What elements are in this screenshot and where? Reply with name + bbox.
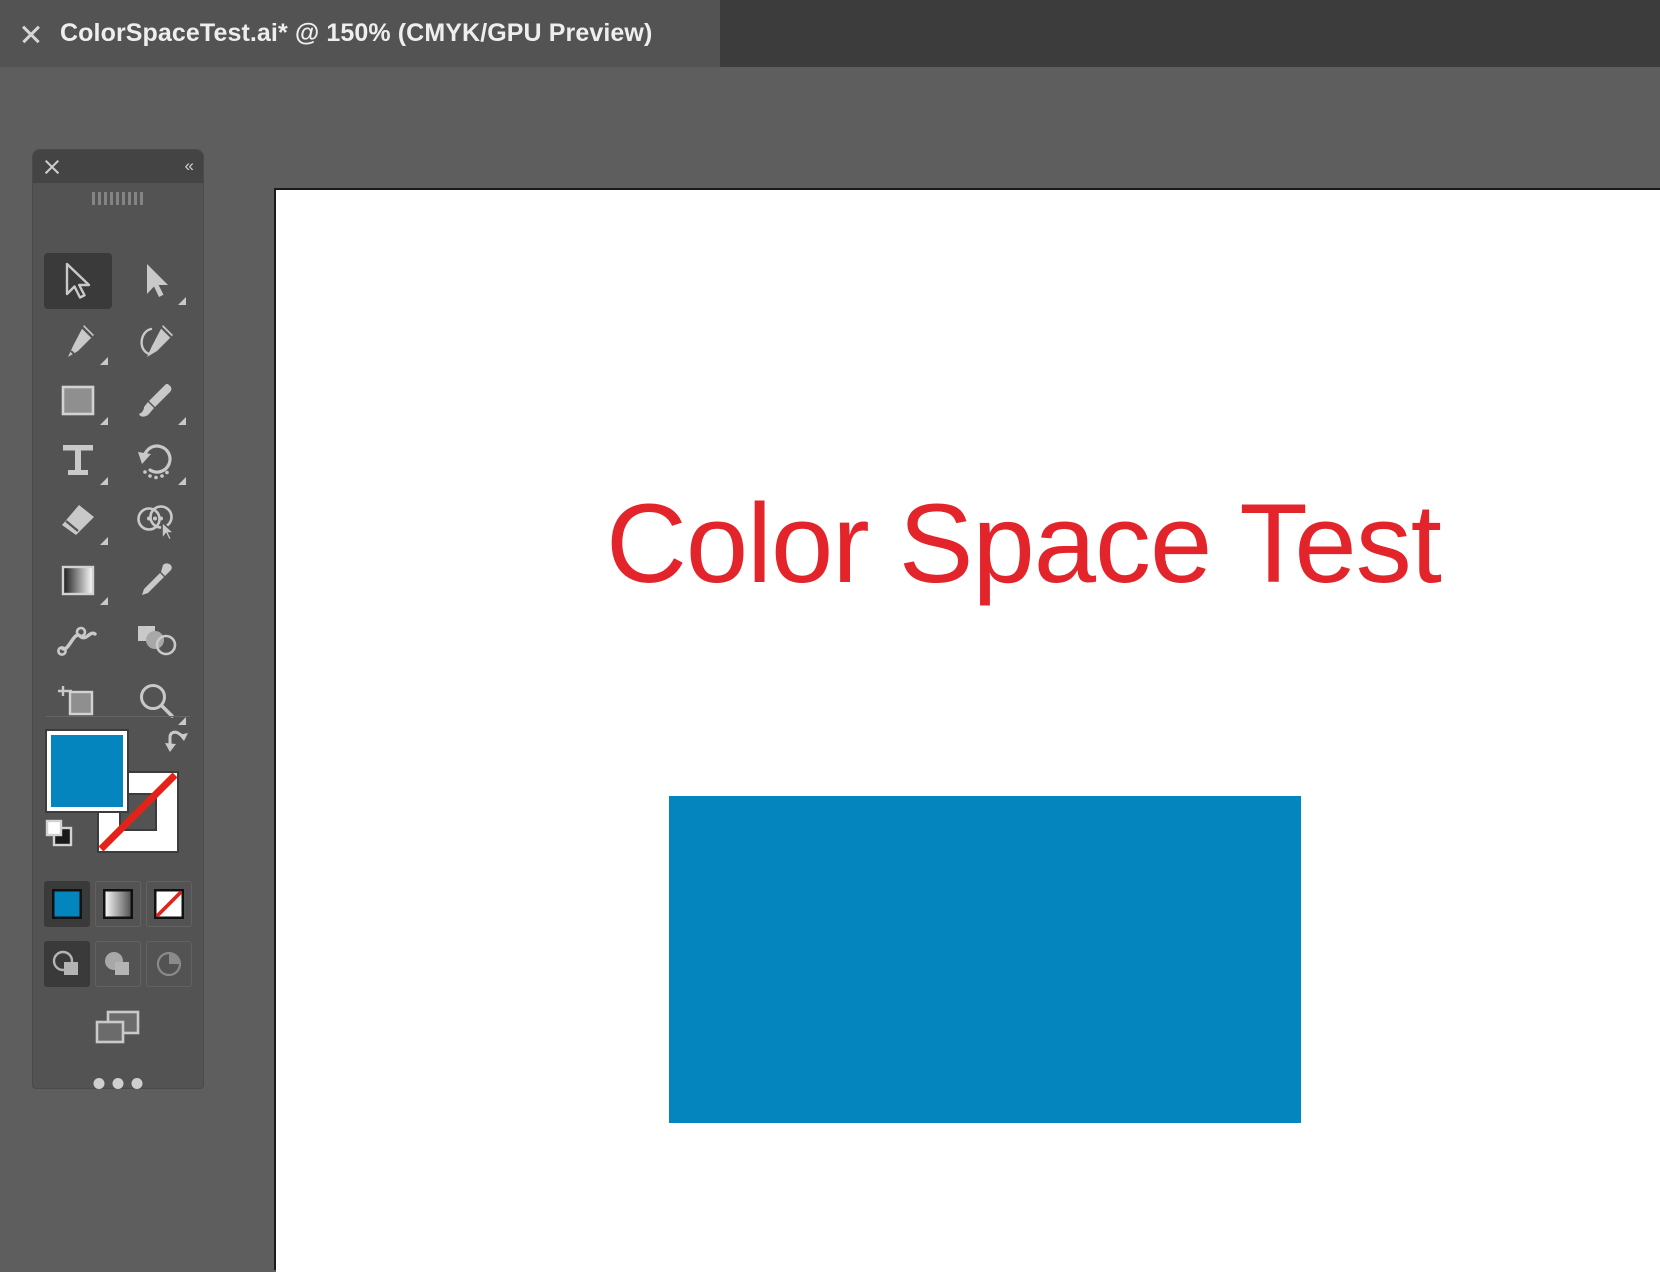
artboard-tool[interactable]: [44, 673, 112, 729]
width-tool[interactable]: [44, 613, 112, 669]
ellipsis-dot-icon: [132, 1078, 143, 1089]
eyedropper-tool[interactable]: [122, 553, 190, 609]
selection-tool[interactable]: [44, 253, 112, 309]
tools-panel-divider: [46, 716, 190, 717]
rotate-tool[interactable]: [122, 433, 190, 489]
more-tools-button[interactable]: [94, 1078, 143, 1089]
tools-panel-body: [33, 183, 203, 1088]
gradient-mode-button[interactable]: [95, 881, 141, 927]
document-tab[interactable]: ColorSpaceTest.ai* @ 150% (CMYK/GPU Prev…: [0, 0, 720, 67]
default-fill-stroke-icon[interactable]: [45, 819, 75, 849]
fill-swatch[interactable]: [47, 731, 127, 811]
none-mode-button[interactable]: [146, 881, 192, 927]
artwork-title-text[interactable]: Color Space Test: [606, 488, 1441, 600]
tool-flyout-indicator-icon: [178, 717, 186, 725]
fill-mode-buttons: [44, 881, 192, 927]
canvas-workspace[interactable]: Color Space Test «: [0, 67, 1660, 1268]
tool-flyout-indicator-icon: [100, 597, 108, 605]
tools-panel-header: «: [33, 150, 203, 183]
tool-flyout-indicator-icon: [100, 417, 108, 425]
draw-behind-button[interactable]: [95, 941, 141, 987]
color-mode-button[interactable]: [44, 881, 90, 927]
close-icon[interactable]: [18, 21, 44, 47]
type-tool[interactable]: [44, 433, 112, 489]
zoom-tool[interactable]: [122, 673, 190, 729]
ellipsis-dot-icon: [94, 1078, 105, 1089]
eraser-tool[interactable]: [44, 493, 112, 549]
tools-panel[interactable]: «: [33, 150, 203, 1088]
shape-builder-tool[interactable]: [122, 493, 190, 549]
tool-flyout-indicator-icon: [100, 477, 108, 485]
artboard[interactable]: Color Space Test: [276, 190, 1660, 1272]
tool-flyout-indicator-icon: [100, 537, 108, 545]
tool-flyout-indicator-icon: [178, 417, 186, 425]
rectangle-tool[interactable]: [44, 373, 112, 429]
draw-mode-buttons: [44, 941, 192, 987]
document-tab-title: ColorSpaceTest.ai* @ 150% (CMYK/GPU Prev…: [60, 19, 652, 48]
draw-normal-button[interactable]: [44, 941, 90, 987]
tool-flyout-indicator-icon: [178, 297, 186, 305]
tool-flyout-indicator-icon: [178, 477, 186, 485]
paintbrush-tool[interactable]: [122, 373, 190, 429]
fill-stroke-controls: [43, 731, 193, 856]
draw-inside-button[interactable]: [146, 941, 192, 987]
swap-fill-stroke-icon[interactable]: [161, 727, 191, 757]
document-tab-bar: ColorSpaceTest.ai* @ 150% (CMYK/GPU Prev…: [0, 0, 1660, 67]
drag-grip-icon[interactable]: [92, 192, 144, 205]
ellipsis-dot-icon: [113, 1078, 124, 1089]
artwork-blue-rectangle[interactable]: [669, 796, 1301, 1123]
pen-tool[interactable]: [44, 313, 112, 369]
direct-selection-tool[interactable]: [122, 253, 190, 309]
free-transform-tool[interactable]: [122, 613, 190, 669]
gradient-tool[interactable]: [44, 553, 112, 609]
tool-flyout-indicator-icon: [100, 357, 108, 365]
close-icon[interactable]: [43, 158, 61, 176]
change-screen-mode-button[interactable]: [88, 1005, 148, 1051]
tools-grid: [44, 253, 192, 729]
curvature-tool[interactable]: [122, 313, 190, 369]
chevron-collapse-icon[interactable]: «: [185, 156, 193, 176]
